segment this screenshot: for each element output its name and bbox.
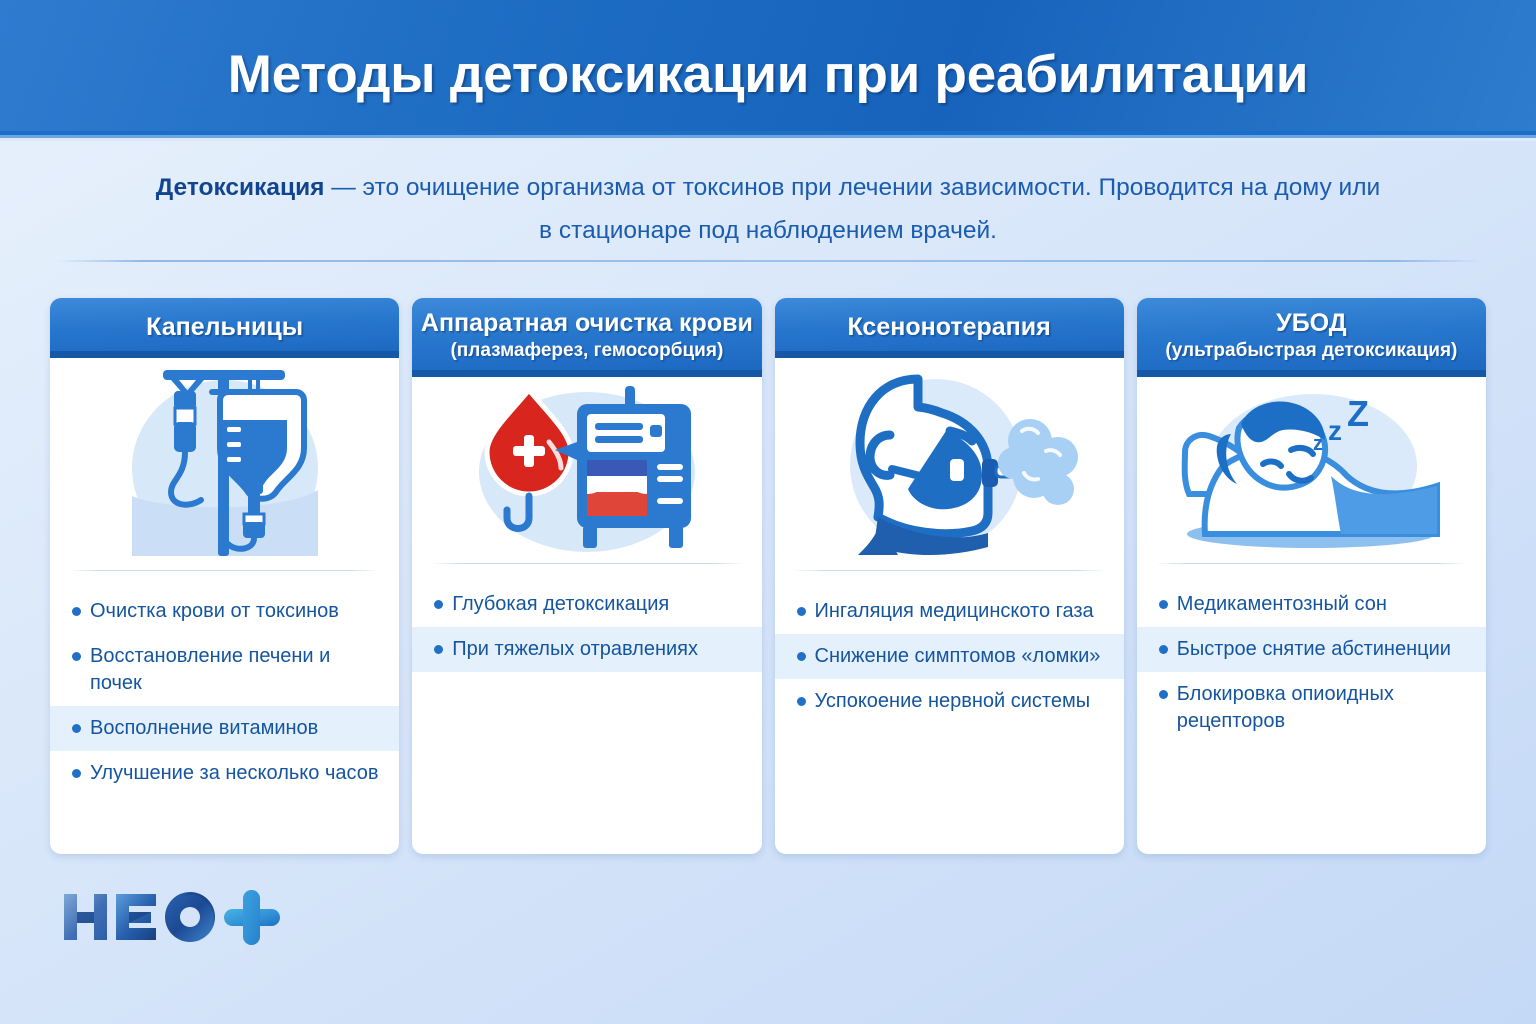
iv-drip-icon bbox=[100, 364, 350, 564]
svg-text:Z: Z bbox=[1347, 393, 1369, 434]
card-header: Аппаратная очистка крови (плазмаферез, г… bbox=[412, 298, 761, 377]
list-item: Восполнение витаминов bbox=[50, 706, 399, 751]
list-item: Восстановление печени и почек bbox=[50, 634, 399, 706]
card-title: Ксенонотерапия bbox=[783, 312, 1116, 342]
card-bullet-list: Ингаляция медицинското газа Снижение сим… bbox=[775, 571, 1124, 724]
intro-rest-text: — это очищение организма от токсинов при… bbox=[324, 174, 1380, 244]
list-item-label: Медикаментозный сон bbox=[1177, 593, 1387, 615]
card-subtitle: (плазмаферез, гемосорбция) bbox=[420, 339, 753, 363]
svg-text:z: z bbox=[1328, 415, 1342, 446]
card-title: Аппаратная очистка крови bbox=[420, 308, 753, 338]
card-bullet-list: Медикаментозный сон Быстрое снятие абсти… bbox=[1137, 564, 1486, 744]
list-item-label: Снижение симптомов «ломки» bbox=[815, 645, 1101, 667]
list-item-label: Блокировка опиоидных рецепторов bbox=[1177, 683, 1394, 732]
bullet-dot-icon bbox=[72, 652, 81, 661]
gas-mask-inhalation-icon bbox=[818, 373, 1080, 555]
intro-lead-word: Детоксикация bbox=[156, 174, 325, 201]
list-item-label: Быстрое снятие абстиненции bbox=[1177, 638, 1451, 660]
infographic-page: Методы детоксикации при реабилитации Дет… bbox=[0, 0, 1536, 1024]
bullet-dot-icon bbox=[797, 607, 806, 616]
card-ubod[interactable]: УБОД (ультрабыстрая детоксикация) z bbox=[1137, 298, 1486, 854]
list-item: Улучшение за несколько часов bbox=[50, 751, 399, 796]
card-title: УБОД bbox=[1145, 308, 1478, 338]
list-item: Снижение симптомов «ломки» bbox=[775, 634, 1124, 679]
list-item-label: Восстановление печени и почек bbox=[90, 645, 330, 694]
section-divider bbox=[57, 260, 1481, 262]
card-illustration bbox=[775, 358, 1124, 570]
brand-logo[interactable]: НЕО+ bbox=[58, 884, 298, 950]
header-banner: Методы детоксикации при реабилитации bbox=[0, 0, 1536, 131]
bullet-dot-icon bbox=[434, 600, 443, 609]
card-bullet-list: Очистка крови от токсинов Восстановление… bbox=[50, 571, 399, 796]
list-item-label: При тяжелых отравлениях bbox=[452, 638, 698, 660]
intro-paragraph: Детоксикация — это очищение организма от… bbox=[150, 166, 1386, 252]
list-item-label: Улучшение за несколько часов bbox=[90, 762, 378, 784]
card-illustration bbox=[50, 358, 399, 570]
list-item: Успокоение нервной системы bbox=[775, 679, 1124, 724]
card-illustration bbox=[412, 377, 761, 563]
sleeping-patient-icon: z z Z bbox=[1171, 388, 1451, 552]
banner-edge-pale bbox=[0, 138, 1536, 141]
bullet-dot-icon bbox=[1159, 600, 1168, 609]
bullet-dot-icon bbox=[434, 645, 443, 654]
bullet-dot-icon bbox=[1159, 645, 1168, 654]
card-header: УБОД (ультрабыстрая детоксикация) bbox=[1137, 298, 1486, 377]
svg-text:z: z bbox=[1313, 433, 1323, 455]
list-item-label: Ингаляция медицинското газа bbox=[815, 600, 1094, 622]
bullet-dot-icon bbox=[72, 724, 81, 733]
card-header: Ксенонотерапия bbox=[775, 298, 1124, 358]
card-apparatnaya-ochistka[interactable]: Аппаратная очистка крови (плазмаферез, г… bbox=[412, 298, 761, 854]
list-item: Быстрое снятие абстиненции bbox=[1137, 627, 1486, 672]
card-ksenonoterapiya[interactable]: Ксенонотерапия bbox=[775, 298, 1124, 854]
bullet-dot-icon bbox=[1159, 690, 1168, 699]
method-cards-row: Капельницы bbox=[50, 298, 1486, 854]
list-item-label: Глубокая детоксикация bbox=[452, 593, 669, 615]
list-item-label: Очистка крови от токсинов bbox=[90, 600, 339, 622]
list-item: При тяжелых отравлениях bbox=[412, 627, 761, 672]
card-bullet-list: Глубокая детоксикация При тяжелых отравл… bbox=[412, 564, 761, 672]
list-item-label: Успокоение нервной системы bbox=[815, 690, 1091, 712]
blood-purification-machine-icon bbox=[457, 380, 717, 560]
bullet-dot-icon bbox=[72, 769, 81, 778]
page-title: Методы детоксикации при реабилитации bbox=[0, 44, 1536, 105]
bullet-dot-icon bbox=[797, 697, 806, 706]
card-kapelnitsy[interactable]: Капельницы bbox=[50, 298, 399, 854]
list-item: Блокировка опиоидных рецепторов bbox=[1137, 672, 1486, 744]
list-item: Ингаляция медицинското газа bbox=[775, 589, 1124, 634]
list-item: Глубокая детоксикация bbox=[412, 582, 761, 627]
card-title: Капельницы bbox=[58, 312, 391, 342]
neo-plus-logo-icon bbox=[58, 884, 298, 950]
bullet-dot-icon bbox=[797, 652, 806, 661]
card-subtitle: (ультрабыстрая детоксикация) bbox=[1145, 339, 1478, 363]
list-item-label: Восполнение витаминов bbox=[90, 717, 318, 739]
card-header: Капельницы bbox=[50, 298, 399, 358]
list-item: Медикаментозный сон bbox=[1137, 582, 1486, 627]
bullet-dot-icon bbox=[72, 607, 81, 616]
list-item: Очистка крови от токсинов bbox=[50, 589, 399, 634]
card-illustration: z z Z bbox=[1137, 377, 1486, 563]
